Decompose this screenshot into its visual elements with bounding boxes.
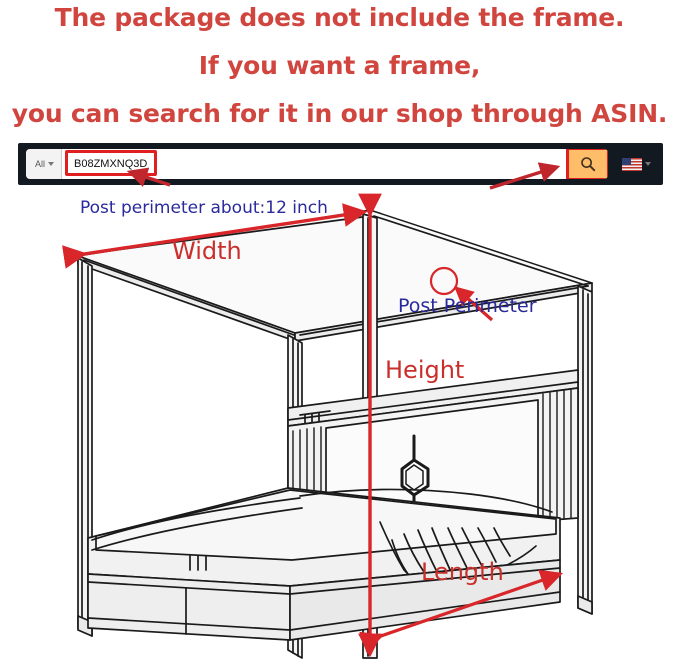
search-submit-button[interactable]	[568, 149, 608, 179]
headline-line-3: you can search for it in our shop throug…	[0, 78, 679, 126]
headline-line-2: If you want a frame,	[0, 30, 679, 78]
us-flag-icon	[622, 158, 642, 171]
search-input[interactable]	[62, 150, 568, 178]
chevron-down-icon	[48, 162, 54, 166]
search-field-group: All	[26, 149, 608, 179]
width-label: Width	[172, 237, 242, 265]
height-label: Height	[385, 356, 464, 384]
chevron-down-icon	[645, 162, 651, 166]
locale-selector[interactable]	[622, 158, 651, 171]
search-category-label: All	[35, 159, 45, 169]
canopy-bed-diagram: Post perimeter about:12 inch Width Post …	[0, 188, 679, 669]
search-icon	[580, 156, 596, 172]
search-category-dropdown[interactable]: All	[26, 149, 62, 179]
post-perimeter-label: Post Perimeter	[398, 295, 537, 317]
length-label: Length	[421, 558, 504, 586]
post-perimeter-note-label: Post perimeter about:12 inch	[80, 198, 328, 218]
headline-banner: The package does not include the frame. …	[0, 0, 679, 138]
amazon-search-bar: All	[18, 143, 663, 185]
headline-line-1: The package does not include the frame.	[0, 0, 679, 30]
search-input-wrap	[62, 149, 568, 179]
search-submit-wrap	[568, 149, 608, 179]
